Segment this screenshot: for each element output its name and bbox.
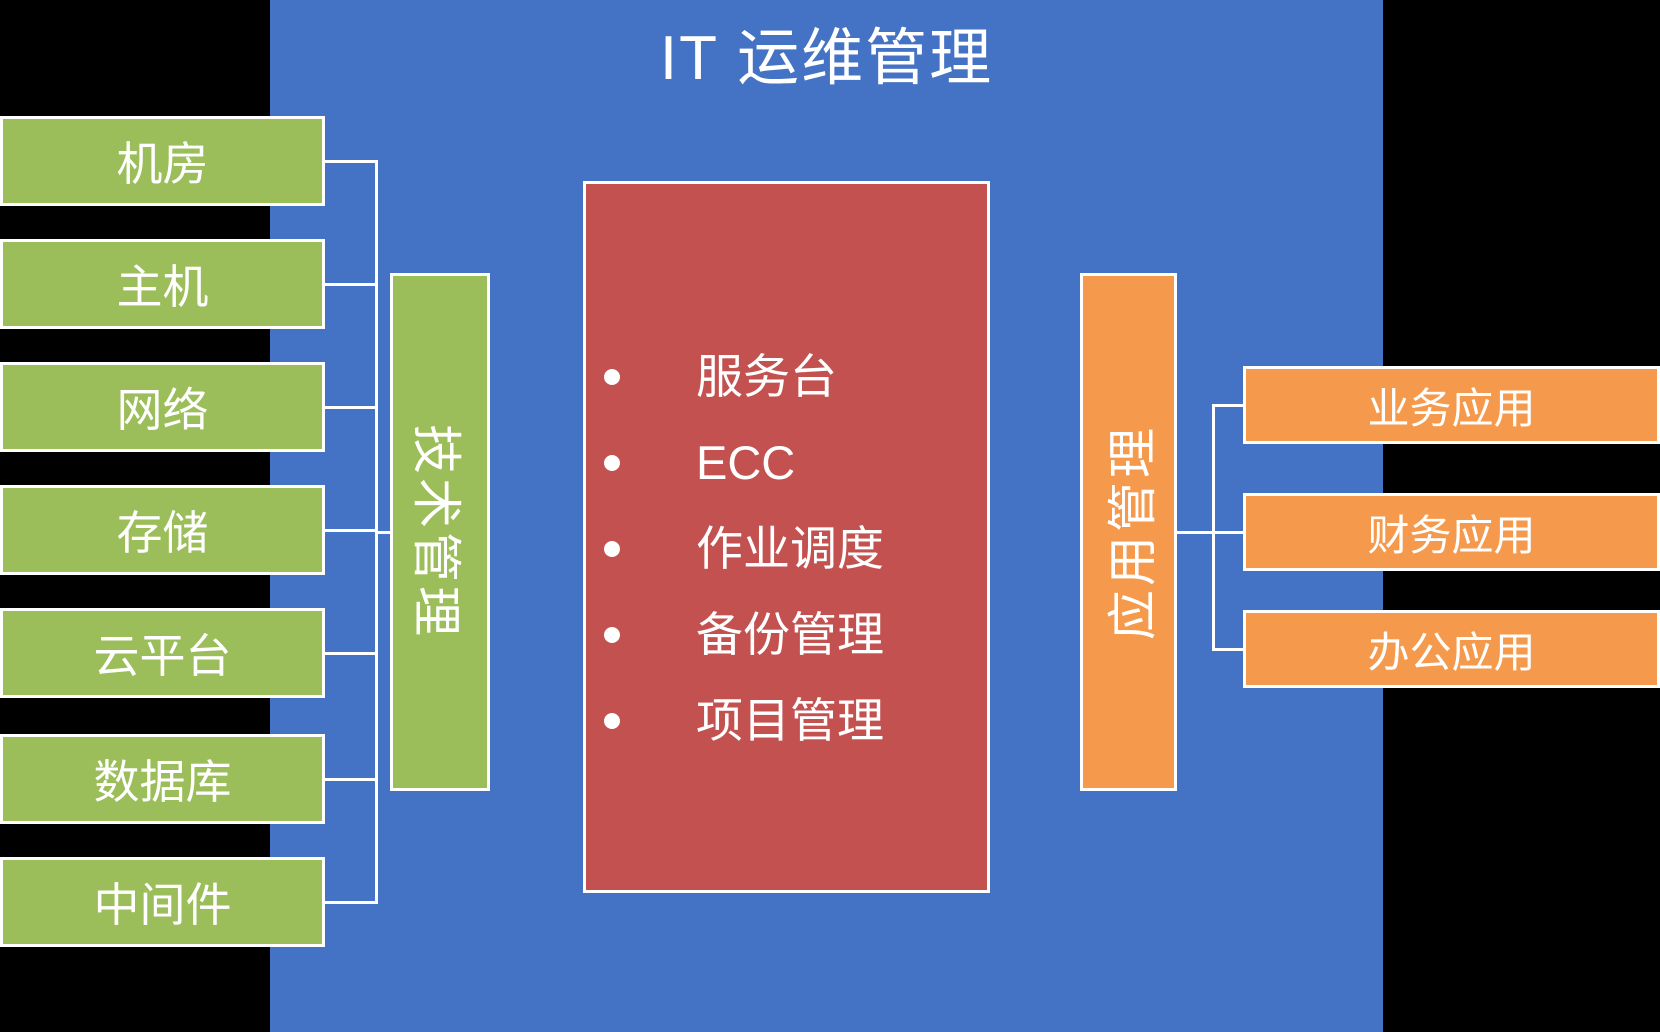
app-item-label: 财务应用 [1367,502,1535,563]
app-item-bangong[interactable]: 办公应用 [1243,610,1660,688]
connector-tech-5 [325,778,378,781]
tech-item-label: 数据库 [94,746,232,812]
tech-item-cunchu[interactable]: 存储 [0,485,325,575]
app-item-yewu[interactable]: 业务应用 [1243,366,1660,444]
core-services-panel: 服务台 ECC 作业调度 备份管理 项目管理 [583,181,990,893]
tech-item-zhongjianjian[interactable]: 中间件 [0,857,325,947]
core-services-list: 服务台 ECC 作业调度 备份管理 项目管理 [586,334,987,764]
diagram-canvas: IT 运维管理 机房 主机 网络 存储 云平台 数据库 中间件 技术管理 [0,0,1660,1032]
core-item-label: 备份管理 [696,608,884,661]
core-list-item[interactable]: ECC [586,420,987,506]
group-box-technology-management[interactable]: 技术管理 [390,273,490,791]
bullet-icon [604,369,620,385]
group-box-application-management[interactable]: 应用管理 [1080,273,1177,791]
tech-item-wangluo[interactable]: 网络 [0,362,325,452]
tech-item-label: 中间件 [94,869,232,935]
connector-tech-0 [325,160,378,163]
connector-app-2 [1212,648,1245,651]
app-item-caiwu[interactable]: 财务应用 [1243,493,1660,571]
connector-app-bus [1212,404,1215,650]
core-item-label: 服务台 [696,350,837,403]
tech-item-shujuku[interactable]: 数据库 [0,734,325,824]
page-title: IT 运维管理 [270,16,1383,102]
core-list-item[interactable]: 项目管理 [586,678,987,764]
tech-item-label: 网络 [117,374,209,440]
tech-item-label: 机房 [117,128,209,194]
tech-item-label: 主机 [117,251,209,317]
core-list-item[interactable]: 作业调度 [586,506,987,592]
core-item-label: 项目管理 [696,694,884,747]
tech-item-label: 存储 [117,497,209,563]
connector-tech-4 [325,652,378,655]
core-list-item[interactable]: 备份管理 [586,592,987,678]
connector-app-0 [1212,404,1245,407]
group-box-application-management-inner: 应用管理 [1080,497,1177,567]
bullet-icon [604,627,620,643]
app-item-label: 办公应用 [1367,619,1535,680]
tech-item-zhuji[interactable]: 主机 [0,239,325,329]
bullet-icon [604,455,620,471]
bullet-icon [604,541,620,557]
bullet-icon [604,713,620,729]
connector-app-trunk [1177,531,1213,534]
connector-tech-2 [325,406,378,409]
app-item-label: 业务应用 [1367,375,1535,436]
tech-item-jifang[interactable]: 机房 [0,116,325,206]
core-item-label: ECC [696,436,795,489]
core-item-label: 作业调度 [696,522,884,575]
tech-item-label: 云平台 [94,620,232,686]
tech-item-yunpingtai[interactable]: 云平台 [0,608,325,698]
connector-tech-6 [325,901,378,904]
group-label-application-management: 应用管理 [1093,424,1165,640]
connector-tech-3 [325,529,378,532]
core-list-item[interactable]: 服务台 [586,334,987,420]
group-box-technology-management-inner: 技术管理 [390,497,490,567]
connector-app-1 [1212,531,1245,534]
group-label-technology-management: 技术管理 [404,424,476,640]
connector-tech-1 [325,283,378,286]
